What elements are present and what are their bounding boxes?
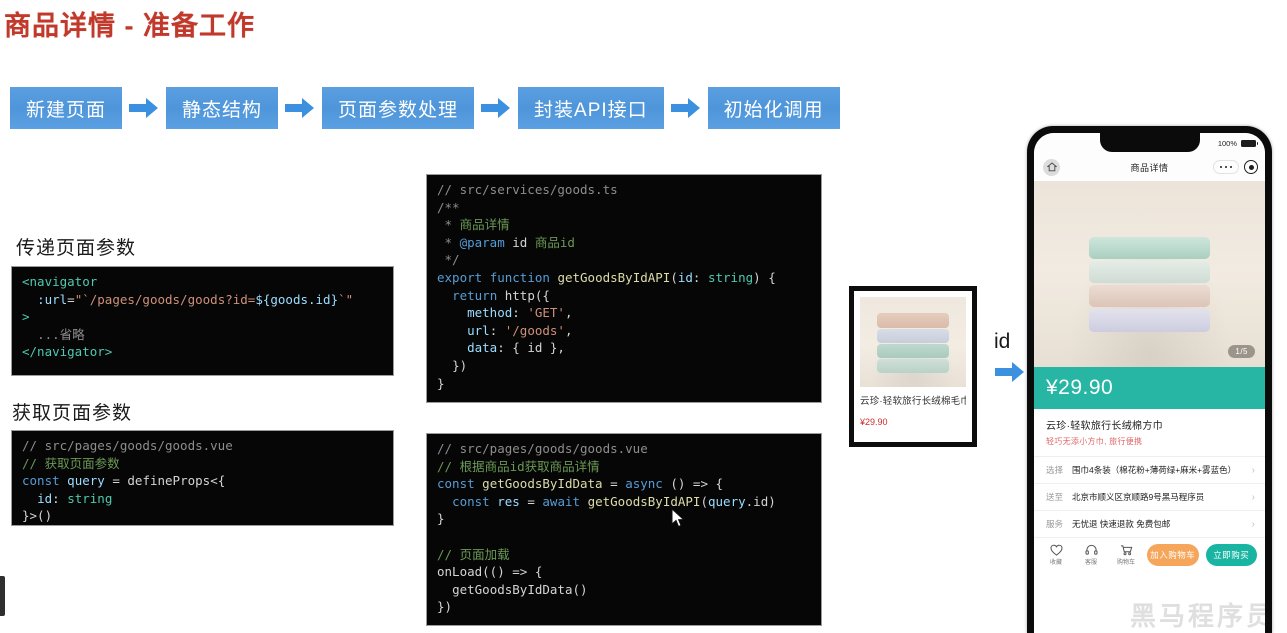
id-link-label: id xyxy=(994,330,1010,354)
heading-pass-page-params: 传递页面参数 xyxy=(16,233,136,260)
spec-row-delivery[interactable]: 送至 北京市顺义区京顺路9号黑马程序员 › xyxy=(1034,483,1265,510)
flow-step-5[interactable]: 初始化调用 xyxy=(708,87,840,129)
spec-key: 选择 xyxy=(1046,464,1063,476)
phone-nav-bar: 商品详情 xyxy=(1034,153,1265,181)
action-cart-label: 购物车 xyxy=(1117,557,1135,566)
chevron-right-icon: › xyxy=(1252,465,1255,476)
action-favorite[interactable]: 收藏 xyxy=(1042,544,1070,566)
flow-step-3[interactable]: 页面参数处理 xyxy=(322,87,474,129)
spec-key: 送至 xyxy=(1046,491,1063,503)
right-arrow-icon xyxy=(481,97,511,119)
chevron-right-icon: › xyxy=(1252,492,1255,503)
target-icon[interactable] xyxy=(1244,160,1258,174)
workflow-steps: 新建页面 静态结构 页面参数处理 封装API接口 初始化调用 xyxy=(10,87,840,129)
heading-get-page-params: 获取页面参数 xyxy=(12,398,132,425)
headset-icon xyxy=(1085,544,1098,556)
product-action-bar: 收藏 客服 购物车 加入购物车 立即购买 xyxy=(1034,537,1265,572)
heart-icon xyxy=(1050,544,1063,556)
battery-full-icon xyxy=(1241,140,1256,147)
phone-screen: 100% 商品详情 1/5 ¥29.90 云珍·轻软旅行长绒 xyxy=(1034,133,1265,633)
action-service-label: 客服 xyxy=(1085,557,1097,566)
right-arrow-icon xyxy=(995,358,1025,386)
product-card-body: 云珍·轻软旅行长绒棉毛巾 ¥29.90 xyxy=(854,291,972,442)
code-block-define-props: // src/pages/goods/goods.vue // 获取页面参数 c… xyxy=(11,430,394,526)
action-service[interactable]: 客服 xyxy=(1077,544,1105,566)
spec-value: 北京市顺义区京顺路9号黑马程序员 xyxy=(1072,491,1243,503)
flow-step-4[interactable]: 封装API接口 xyxy=(518,87,664,129)
action-favorite-label: 收藏 xyxy=(1050,557,1062,566)
flow-step-2-label: 静态结构 xyxy=(182,95,262,122)
flow-arrow-1 xyxy=(122,87,166,129)
more-dots-icon[interactable] xyxy=(1213,160,1239,174)
product-description: 轻巧无添小方巾, 旅行便携 xyxy=(1034,432,1265,456)
spec-value: 无忧退 快速退款 免费包邮 xyxy=(1072,518,1243,530)
flow-step-4-label: 封装API接口 xyxy=(534,95,648,122)
price-bar: ¥29.90 xyxy=(1034,367,1265,409)
flow-step-5-label: 初始化调用 xyxy=(724,95,824,122)
product-name: 云珍·轻软旅行长绒棉方巾 xyxy=(1034,409,1265,432)
flow-arrow-4 xyxy=(664,87,708,129)
flow-step-1[interactable]: 新建页面 xyxy=(10,87,122,129)
product-card-name: 云珍·轻软旅行长绒棉毛巾 xyxy=(860,393,966,407)
wechat-capsule[interactable] xyxy=(1213,160,1258,174)
product-price: ¥29.90 xyxy=(1046,376,1113,400)
battery-percent-label: 100% xyxy=(1218,139,1237,148)
product-card-thumbnail[interactable]: 云珍·轻软旅行长绒棉毛巾 ¥29.90 xyxy=(849,286,977,447)
flow-step-1-label: 新建页面 xyxy=(26,95,106,122)
right-arrow-icon xyxy=(285,97,315,119)
buy-now-button[interactable]: 立即购买 xyxy=(1206,544,1258,566)
watermark-text: 黑马程序员 xyxy=(1130,596,1275,633)
code-block-navigator: <navigator :url="`/pages/goods/goods?id=… xyxy=(11,266,394,376)
home-glyph xyxy=(1047,162,1057,172)
phone-mockup: 100% 商品详情 1/5 ¥29.90 云珍·轻软旅行长绒 xyxy=(1027,126,1272,633)
mouse-cursor-icon xyxy=(671,508,685,528)
carousel-indicator: 1/5 xyxy=(1228,345,1255,358)
product-hero-image[interactable]: 1/5 xyxy=(1034,181,1265,367)
flow-step-2[interactable]: 静态结构 xyxy=(166,87,278,129)
add-to-cart-button[interactable]: 加入购物车 xyxy=(1147,544,1199,566)
left-edge-artifact xyxy=(0,576,5,616)
phone-notch xyxy=(1100,133,1200,152)
spec-row-select[interactable]: 选择 围巾4条装（棉花粉+薄荷绿+麻米+雾蓝色） › xyxy=(1034,456,1265,483)
page-title: 商品详情 - 准备工作 xyxy=(4,4,255,43)
spec-value: 围巾4条装（棉花粉+薄荷绿+麻米+雾蓝色） xyxy=(1072,464,1243,476)
code-block-goods-service: // src/services/goods.ts /** * 商品详情 * @p… xyxy=(426,174,822,403)
cart-icon xyxy=(1120,544,1133,556)
flow-arrow-3 xyxy=(474,87,518,129)
chevron-right-icon: › xyxy=(1252,519,1255,530)
right-arrow-icon xyxy=(129,97,159,119)
home-icon[interactable] xyxy=(1043,159,1060,176)
right-arrow-icon xyxy=(671,97,701,119)
code-block-goods-vue: // src/pages/goods/goods.vue // 根据商品id获取… xyxy=(426,433,822,626)
flow-step-3-label: 页面参数处理 xyxy=(338,95,458,122)
product-card-price: ¥29.90 xyxy=(860,417,966,427)
flow-arrow-2 xyxy=(278,87,322,129)
product-card-image xyxy=(860,297,966,387)
action-cart[interactable]: 购物车 xyxy=(1112,544,1140,566)
spec-row-service[interactable]: 服务 无忧退 快速退款 免费包邮 › xyxy=(1034,510,1265,537)
spec-key: 服务 xyxy=(1046,518,1063,530)
